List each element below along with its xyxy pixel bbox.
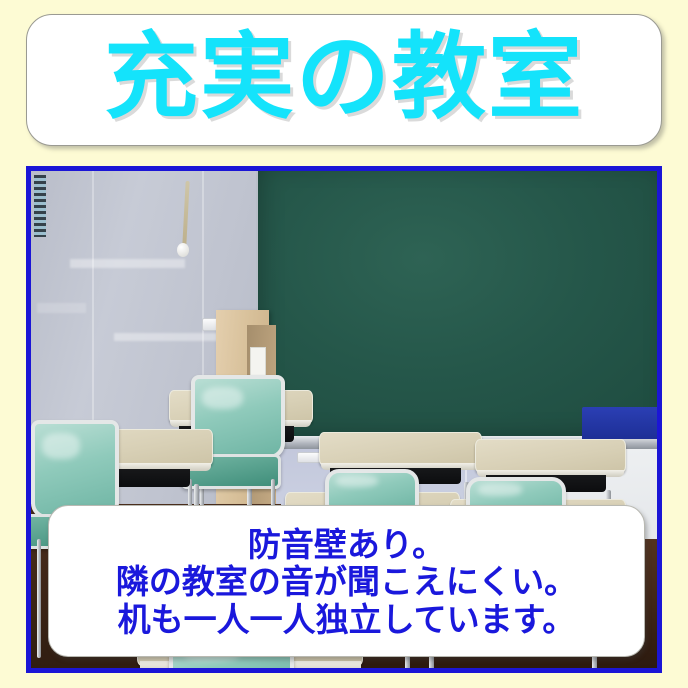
chalkboard [256, 171, 657, 439]
page-title: 充実の教室 [104, 31, 584, 125]
chair-leg [37, 539, 41, 658]
caption-box: 防音壁あり。 隣の教室の音が聞こえにくい。 机も一人一人独立しています。 [48, 505, 645, 657]
pull-cord-knob [177, 243, 189, 257]
chair [31, 420, 119, 519]
caption-line-2: 隣の教室の音が聞こえにくい。 [116, 563, 577, 601]
caption-line-1: 防音壁あり。 [248, 526, 445, 564]
header-banner: 充実の教室 [26, 14, 662, 146]
blue-bin [582, 407, 657, 439]
watermark-strip [34, 175, 46, 237]
caption-line-3: 机も一人一人独立しています。 [118, 601, 576, 639]
